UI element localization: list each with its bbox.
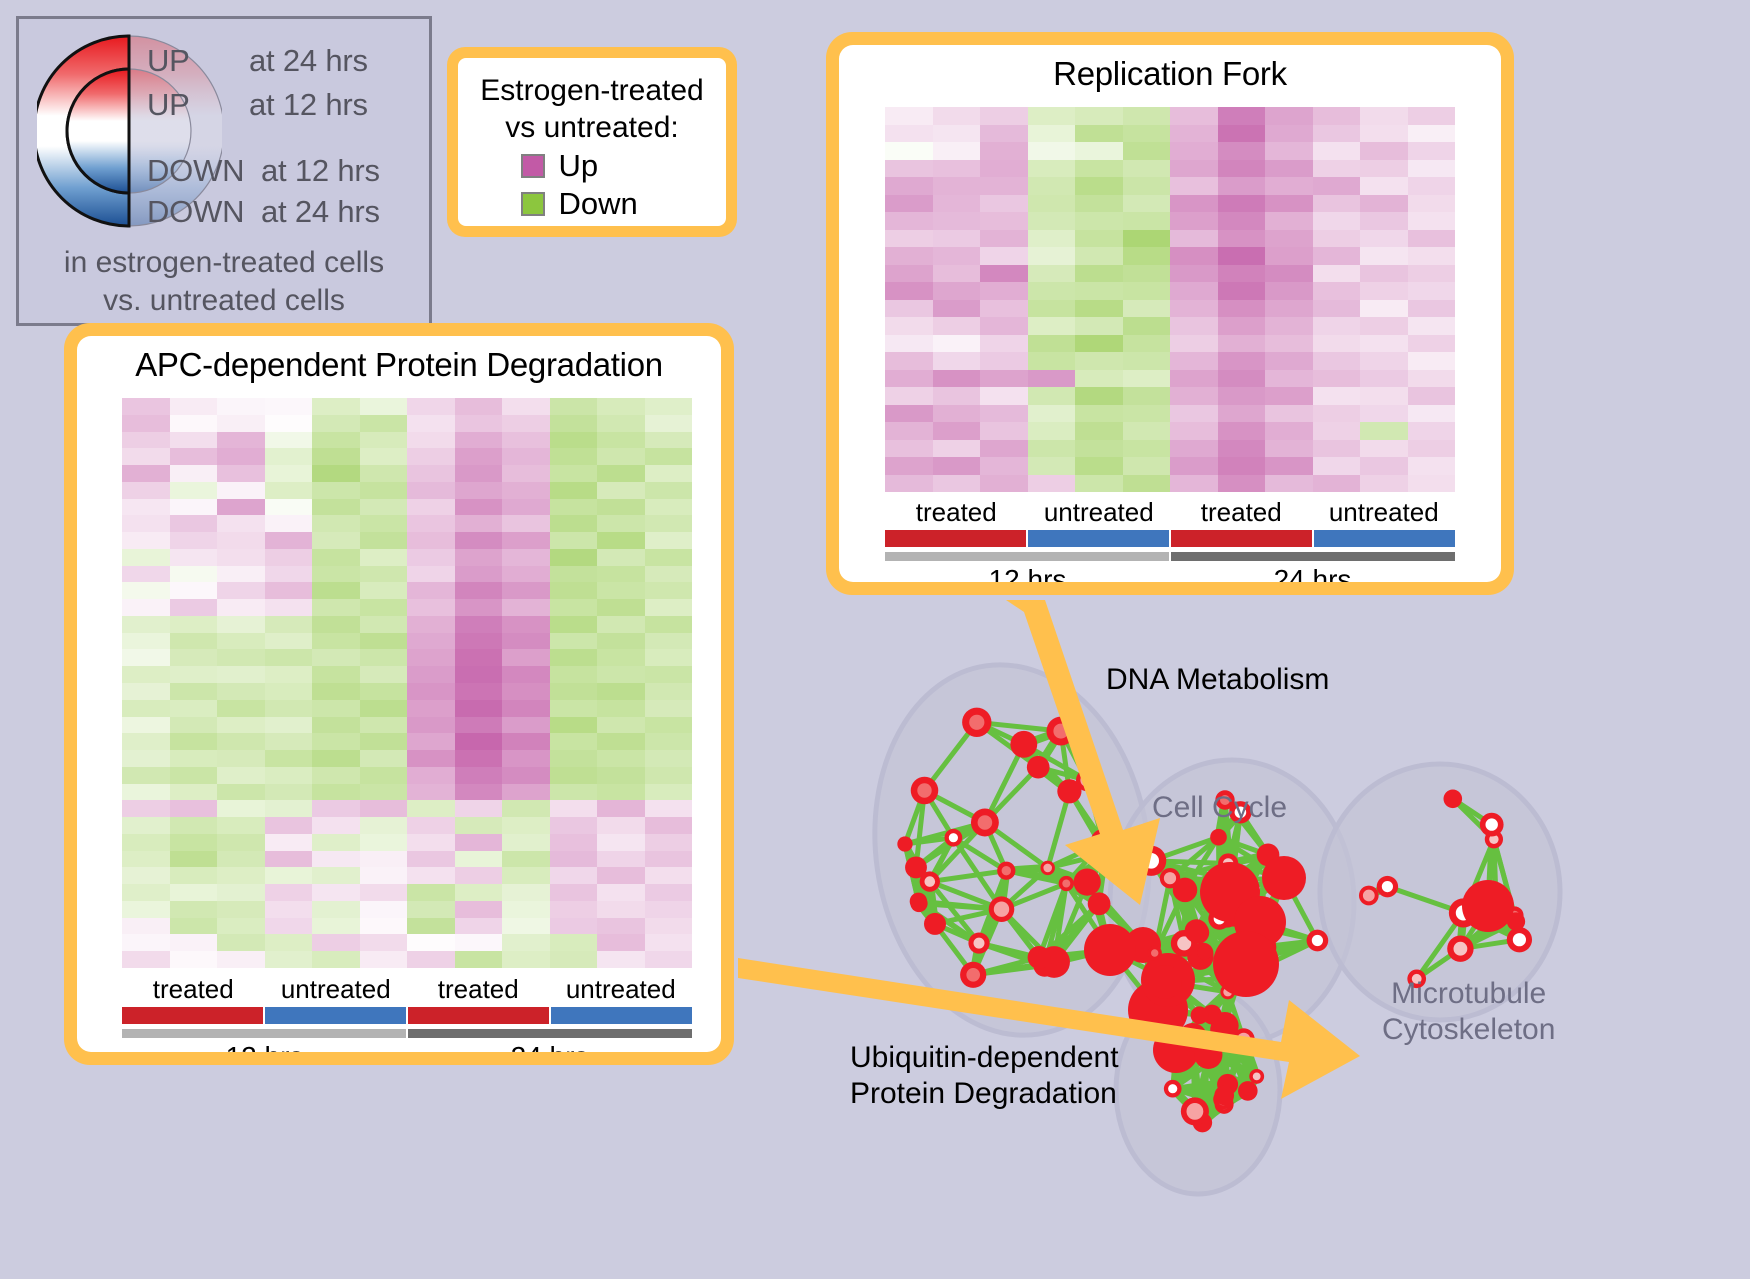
heatmap-cell — [217, 700, 265, 717]
heatmap-cell — [217, 934, 265, 951]
heatmap-cell — [407, 733, 455, 750]
legend-row-3-direction: DOWN — [147, 194, 244, 230]
heatmap-cell — [502, 901, 550, 918]
heatmap-cell — [645, 918, 693, 935]
heatmap-cell — [407, 901, 455, 918]
heatmap-cell — [1028, 387, 1076, 405]
heatmap-cell — [933, 160, 981, 178]
heatmap-cell — [407, 934, 455, 951]
axis-group-label: treated — [885, 497, 1028, 528]
network-node — [897, 836, 912, 851]
heatmap-cell — [1123, 212, 1171, 230]
heatmap-cell — [980, 212, 1028, 230]
heatmap-cell — [550, 465, 598, 482]
heatmap-cell — [170, 432, 218, 449]
heatmap-cell — [170, 834, 218, 851]
heatmap-cell — [407, 800, 455, 817]
heatmap-cell — [455, 448, 503, 465]
time-bar — [122, 1029, 408, 1038]
heatmap-cell — [502, 633, 550, 650]
heatmap-cell — [455, 482, 503, 499]
heatmap-cell — [407, 482, 455, 499]
heatmap-cell — [885, 282, 933, 300]
heatmap-cell — [885, 300, 933, 318]
heatmap-cell — [1408, 160, 1456, 178]
heatmap-cell — [1313, 440, 1361, 458]
heatmap-cell — [550, 784, 598, 801]
heatmap-cell — [1123, 160, 1171, 178]
time-bars-apc — [122, 1029, 692, 1038]
heatmap-cell — [933, 125, 981, 143]
heatmap-cell — [122, 582, 170, 599]
heatmap-cell — [1123, 142, 1171, 160]
heatmap-cell — [645, 398, 693, 415]
heatmap-cell — [885, 457, 933, 475]
heatmap-replication-fork — [885, 107, 1455, 492]
heatmap-cell — [1313, 265, 1361, 283]
heatmap-cell — [217, 649, 265, 666]
heatmap-cell — [170, 482, 218, 499]
heatmap-cell — [1075, 387, 1123, 405]
heatmap-cell — [645, 851, 693, 868]
heatmap-cell — [1313, 370, 1361, 388]
heatmap-cell — [1028, 212, 1076, 230]
heatmap-cell — [1123, 125, 1171, 143]
heatmap-cell — [502, 415, 550, 432]
heatmap-cell — [1313, 142, 1361, 160]
time-label: 12 hrs — [885, 564, 1170, 582]
heatmap-cell — [980, 370, 1028, 388]
heatmap-cell — [645, 582, 693, 599]
heatmap-cell — [597, 666, 645, 683]
heatmap-cell — [1123, 335, 1171, 353]
heatmap-cell — [1360, 387, 1408, 405]
heatmap-cell — [1028, 300, 1076, 318]
heatmap-cell — [1218, 125, 1266, 143]
heatmap-cell — [170, 515, 218, 532]
heatmap-cell — [360, 700, 408, 717]
heatmap-cell — [1028, 230, 1076, 248]
heatmap-cell — [1218, 142, 1266, 160]
network-node-core — [1185, 1030, 1200, 1045]
axis-block-replication: treateduntreatedtreateduntreated 12 hrs2… — [885, 497, 1455, 582]
heatmap-cell — [170, 398, 218, 415]
heatmap-cell — [122, 767, 170, 784]
heatmap-cell — [407, 750, 455, 767]
heatmap-cell — [550, 767, 598, 784]
heatmap-cell — [502, 582, 550, 599]
heatmap-cell — [550, 700, 598, 717]
heatmap-cell — [1123, 422, 1171, 440]
heatmap-cell — [1123, 300, 1171, 318]
heatmap-cell — [933, 265, 981, 283]
heatmap-cell — [1265, 142, 1313, 160]
axis-group-labels-apc: treateduntreatedtreateduntreated — [122, 974, 692, 1005]
heatmap-cell — [885, 475, 933, 493]
heatmap-cell — [550, 448, 598, 465]
heatmap-cell — [1313, 422, 1361, 440]
heatmap-cell — [597, 582, 645, 599]
heatmap-cell — [170, 700, 218, 717]
heatmap-cell — [360, 532, 408, 549]
heatmap-cell — [170, 851, 218, 868]
heatmap-cell — [597, 851, 645, 868]
heatmap-cell — [1360, 335, 1408, 353]
heatmap-cell — [550, 515, 598, 532]
heatmap-cell — [1218, 475, 1266, 493]
heatmap-cell — [217, 633, 265, 650]
heatmap-cell — [502, 683, 550, 700]
heatmap-cell — [1360, 317, 1408, 335]
heatmap-cell — [360, 415, 408, 432]
heatmap-cell — [407, 599, 455, 616]
heatmap-cell — [645, 750, 693, 767]
heatmap-cell — [455, 465, 503, 482]
heatmap-cell — [312, 683, 360, 700]
network-node-core — [1002, 866, 1011, 875]
network-node-core — [966, 968, 980, 982]
heatmap-cell — [1123, 370, 1171, 388]
heatmap-cell — [933, 370, 981, 388]
heatmap-cell — [980, 457, 1028, 475]
heatmap-cell — [265, 465, 313, 482]
heatmap-cell — [1313, 317, 1361, 335]
network-node-core — [1187, 1103, 1204, 1120]
heatmap-cell — [455, 733, 503, 750]
heatmap-cell — [1218, 370, 1266, 388]
heatmap-cell — [217, 800, 265, 817]
network-node-core — [1237, 1033, 1250, 1046]
heatmap-cell — [980, 265, 1028, 283]
heatmap-cell — [1170, 230, 1218, 248]
heatmap-cell — [645, 901, 693, 918]
axis-group-bar — [122, 1007, 265, 1024]
heatmap-cell — [217, 918, 265, 935]
heatmap-cell — [312, 499, 360, 516]
time-bar — [408, 1029, 692, 1038]
heatmap-cell — [1313, 247, 1361, 265]
heatmap-cell — [455, 683, 503, 700]
heatmap-cell — [885, 405, 933, 423]
heatmap-cell — [885, 125, 933, 143]
heatmap-cell — [1218, 457, 1266, 475]
heatmap-cell — [1028, 177, 1076, 195]
time-label: 24 hrs — [407, 1041, 692, 1052]
heatmap-cell — [597, 649, 645, 666]
heatmap-cell — [360, 582, 408, 599]
network-node-core — [1164, 872, 1176, 884]
heatmap-cell — [645, 951, 693, 968]
updown-title-line1: Estrogen-treated — [468, 72, 716, 109]
heatmap-cell — [597, 683, 645, 700]
heatmap-cell — [360, 499, 408, 516]
heatmap-cell — [1360, 440, 1408, 458]
heatmap-cell — [1218, 212, 1266, 230]
heatmap-cell — [407, 415, 455, 432]
heatmap-cell — [360, 549, 408, 566]
heatmap-cell — [550, 800, 598, 817]
heatmap-cell — [980, 300, 1028, 318]
heatmap-cell — [1313, 475, 1361, 493]
heatmap-cell — [360, 465, 408, 482]
heatmap-cell — [502, 666, 550, 683]
heatmap-cell — [217, 817, 265, 834]
heatmap-cell — [1028, 335, 1076, 353]
heatmap-cell — [312, 649, 360, 666]
heatmap-cell — [360, 398, 408, 415]
microtubule-line2: Cytoskeleton — [1382, 1012, 1555, 1048]
heatmap-cell — [597, 717, 645, 734]
heatmap-cell — [122, 499, 170, 516]
heatmap-cell — [933, 247, 981, 265]
network-node — [1185, 919, 1209, 943]
axis-group-bars-replication — [885, 530, 1455, 547]
heatmap-cell — [122, 666, 170, 683]
cluster-label-dna-metabolism: DNA Metabolism — [1106, 662, 1329, 698]
network-node-core — [1312, 935, 1323, 946]
heatmap-cell — [265, 817, 313, 834]
heatmap-cell — [502, 918, 550, 935]
heatmap-cell — [597, 901, 645, 918]
heatmap-cell — [550, 566, 598, 583]
network-node — [1211, 1012, 1239, 1040]
heatmap-cell — [645, 817, 693, 834]
heatmap-cell — [980, 317, 1028, 335]
time-labels-apc: 12 hrs24 hrs — [122, 1041, 692, 1052]
heatmap-cell — [1408, 405, 1456, 423]
legend-caption: in estrogen-treated cells vs. untreated … — [19, 244, 429, 320]
heatmap-cell — [1313, 212, 1361, 230]
heatmap-cell — [1170, 370, 1218, 388]
heatmap-cell — [455, 633, 503, 650]
heatmap-cell — [645, 549, 693, 566]
heatmap-cell — [1360, 265, 1408, 283]
heatmap-cell — [1218, 230, 1266, 248]
heatmap-cell — [265, 750, 313, 767]
heatmap-cell — [550, 834, 598, 851]
network-node — [1028, 946, 1051, 969]
heatmap-cell — [502, 616, 550, 633]
heatmap-cell — [360, 918, 408, 935]
heatmap-cell — [1075, 282, 1123, 300]
heatmap-cell — [122, 817, 170, 834]
heatmap-cell — [645, 867, 693, 884]
heatmap-cell — [1218, 282, 1266, 300]
heatmap-cell — [217, 834, 265, 851]
time-bar — [1171, 552, 1455, 561]
heatmap-cell — [407, 649, 455, 666]
network-node-core — [1454, 942, 1468, 956]
time-label: 12 hrs — [122, 1041, 407, 1052]
heatmap-cell — [1313, 177, 1361, 195]
heatmap-cell — [1360, 282, 1408, 300]
heatmap-cell — [312, 599, 360, 616]
heatmap-cell — [407, 767, 455, 784]
heatmap-cell — [455, 649, 503, 666]
panel-replication-fork: Replication Fork treateduntreatedtreated… — [826, 32, 1514, 595]
heatmap-cell — [122, 465, 170, 482]
heatmap-cell — [360, 800, 408, 817]
network-node — [1210, 829, 1227, 846]
heatmap-cell — [1360, 230, 1408, 248]
heatmap-cell — [502, 750, 550, 767]
heatmap-cell — [265, 784, 313, 801]
heatmap-cell — [1265, 282, 1313, 300]
heatmap-cell — [597, 867, 645, 884]
network-diagram: DNA Metabolism Cell Cycle Microtubule Cy… — [780, 600, 1750, 1279]
heatmap-cell — [1028, 475, 1076, 493]
heatmap-cell — [407, 666, 455, 683]
heatmap-cell — [502, 448, 550, 465]
up-label: Up — [559, 148, 664, 184]
heatmap-cell — [360, 432, 408, 449]
heatmap-cell — [1408, 177, 1456, 195]
heatmap-cell — [645, 482, 693, 499]
heatmap-cell — [312, 918, 360, 935]
heatmap-cell — [455, 700, 503, 717]
heatmap-cell — [265, 834, 313, 851]
heatmap-cell — [597, 398, 645, 415]
time-bars-replication — [885, 552, 1455, 561]
axis-group-labels-replication: treateduntreatedtreateduntreated — [885, 497, 1455, 528]
heatmap-cell — [1028, 265, 1076, 283]
heatmap-cell — [265, 599, 313, 616]
heatmap-cell — [407, 566, 455, 583]
legend-item-up: Up — [468, 148, 716, 184]
heatmap-cell — [312, 398, 360, 415]
legend-row-2-direction: DOWN — [147, 153, 244, 189]
heatmap-cell — [1075, 195, 1123, 213]
heatmap-cell — [312, 750, 360, 767]
heatmap-cell — [645, 717, 693, 734]
heatmap-cell — [1408, 230, 1456, 248]
heatmap-cell — [1028, 160, 1076, 178]
heatmap-cell — [1170, 440, 1218, 458]
heatmap-cell — [217, 750, 265, 767]
heatmap-cell — [1028, 440, 1076, 458]
heatmap-cell — [455, 515, 503, 532]
heatmap-cell — [1075, 300, 1123, 318]
heatmap-cell — [312, 432, 360, 449]
heatmap-cell — [645, 415, 693, 432]
network-node — [1027, 756, 1050, 779]
heatmap-cell — [312, 834, 360, 851]
panel-replication-title: Replication Fork — [839, 45, 1501, 93]
heatmap-cell — [597, 532, 645, 549]
heatmap-cell — [980, 125, 1028, 143]
heatmap-cell — [455, 499, 503, 516]
heatmap-cell — [122, 415, 170, 432]
heatmap-cell — [1218, 405, 1266, 423]
heatmap-cell — [980, 405, 1028, 423]
network-node — [1191, 1006, 1209, 1024]
network-node-core — [1168, 1084, 1177, 1093]
heatmap-cell — [980, 352, 1028, 370]
heatmap-cell — [597, 918, 645, 935]
heatmap-cell — [407, 851, 455, 868]
heatmap-cell — [1028, 125, 1076, 143]
heatmap-cell — [1360, 422, 1408, 440]
heatmap-cell — [1028, 142, 1076, 160]
heatmap-cell — [407, 616, 455, 633]
heatmap-cell — [597, 800, 645, 817]
heatmap-cell — [360, 616, 408, 633]
heatmap-cell — [455, 566, 503, 583]
heatmap-cell — [933, 422, 981, 440]
heatmap-cell — [312, 482, 360, 499]
heatmap-cell — [1075, 317, 1123, 335]
heatmap-cell — [502, 800, 550, 817]
heatmap-cell — [1360, 177, 1408, 195]
heatmap-cell — [1265, 160, 1313, 178]
heatmap-cell — [170, 549, 218, 566]
heatmap-cell — [1170, 405, 1218, 423]
network-node-core — [1143, 853, 1159, 869]
heatmap-cell — [550, 549, 598, 566]
heatmap-cell — [502, 532, 550, 549]
cluster-label-cell-cycle: Cell Cycle — [1152, 790, 1287, 826]
axis-group-bar — [265, 1007, 408, 1024]
heatmap-cell — [217, 666, 265, 683]
heatmap-cell — [1408, 107, 1456, 125]
heatmap-cell — [407, 817, 455, 834]
heatmap-cell — [502, 649, 550, 666]
heatmap-cell — [312, 515, 360, 532]
heatmap-cell — [455, 750, 503, 767]
heatmap-cell — [122, 918, 170, 935]
heatmap-cell — [265, 851, 313, 868]
heatmap-cell — [1123, 352, 1171, 370]
heatmap-cell — [1170, 475, 1218, 493]
microtubule-line1: Microtubule — [1382, 976, 1555, 1012]
heatmap-cell — [502, 834, 550, 851]
heatmap-cell — [1408, 387, 1456, 405]
heatmap-cell — [455, 800, 503, 817]
heatmap-cell — [360, 666, 408, 683]
network-node — [1213, 931, 1279, 997]
heatmap-cell — [360, 951, 408, 968]
heatmap-cell — [1360, 247, 1408, 265]
heatmap-cell — [933, 352, 981, 370]
heatmap-cell — [265, 867, 313, 884]
heatmap-cell — [455, 867, 503, 884]
heatmap-cell — [885, 160, 933, 178]
heatmap-cell — [1218, 317, 1266, 335]
heatmap-cell — [360, 834, 408, 851]
heatmap-cell — [360, 784, 408, 801]
heatmap-cell — [455, 415, 503, 432]
heatmap-cell — [1265, 247, 1313, 265]
heatmap-cell — [1170, 265, 1218, 283]
heatmap-cell — [1313, 335, 1361, 353]
heatmap-cell — [933, 335, 981, 353]
heatmap-cell — [1123, 247, 1171, 265]
heatmap-cell — [885, 177, 933, 195]
heatmap-cell — [265, 649, 313, 666]
heatmap-cell — [1408, 282, 1456, 300]
heatmap-cell — [980, 107, 1028, 125]
heatmap-cell — [550, 918, 598, 935]
heatmap-cell — [312, 532, 360, 549]
heatmap-cell — [360, 767, 408, 784]
heatmap-cell — [645, 666, 693, 683]
heatmap-cell — [217, 683, 265, 700]
heatmap-cell — [122, 884, 170, 901]
heatmap-cell — [1265, 177, 1313, 195]
heatmap-cell — [1123, 475, 1171, 493]
heatmap-cell — [1265, 195, 1313, 213]
heatmap-cell — [407, 499, 455, 516]
